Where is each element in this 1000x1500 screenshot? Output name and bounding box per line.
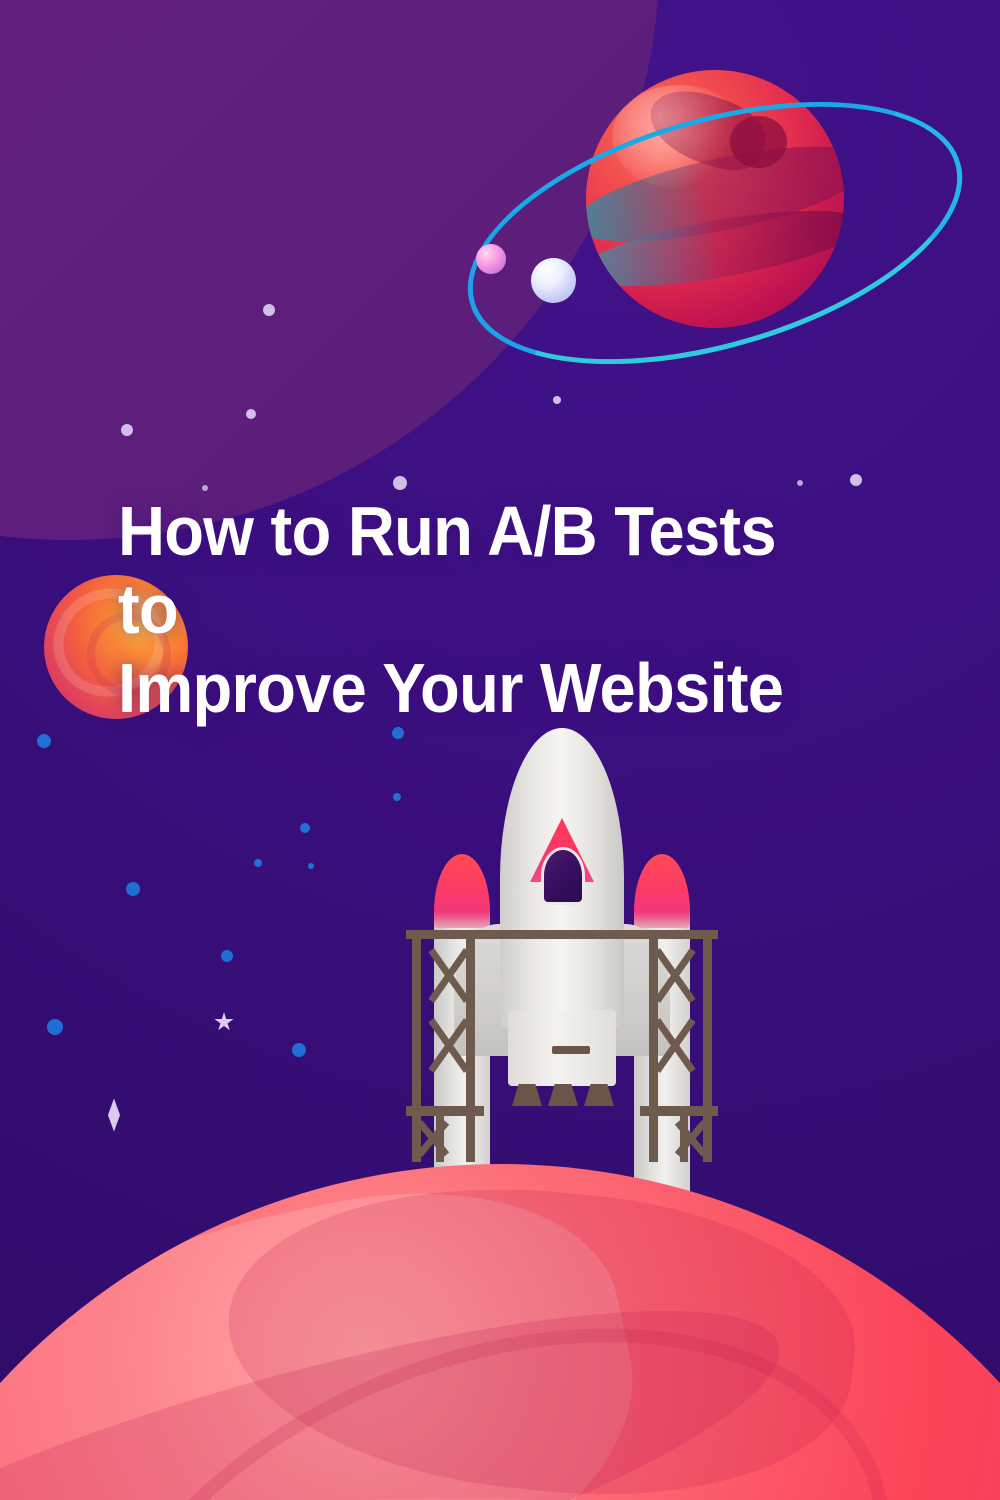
star-dot [850,474,862,486]
star-dot [393,793,401,801]
page-title: How to Run A/B Tests to Improve Your Web… [118,492,853,727]
star-dot [126,882,140,896]
gantry-post-inner-right [649,930,658,1162]
rocket-cockpit-window [544,850,582,902]
gantry-post-inner-left [466,930,475,1162]
pink-moon [476,244,506,274]
booster-left-nose-cone [434,854,490,928]
star-dot [300,823,310,833]
star-dot [263,304,275,316]
blue-moon [531,258,576,303]
gantry-platform-left [406,1106,484,1116]
star-dot [254,859,262,867]
star-dot [292,1043,306,1057]
gantry-platform-right [640,1106,718,1116]
star-dot [797,480,803,486]
star-dot [121,424,133,436]
star-dot [221,950,233,962]
launch-gantry-tower [406,930,718,1162]
star-dot [246,409,256,419]
star-dot [393,476,407,490]
booster-right-nose-cone [634,854,690,928]
star-dot [392,727,404,739]
star-dot [308,863,314,869]
star-dot [47,1019,63,1035]
poster-canvas: How to Run A/B Tests to Improve Your Web… [0,0,1000,1500]
gantry-top-rail [406,930,718,939]
star-dot [202,485,208,491]
star-dot [37,734,51,748]
